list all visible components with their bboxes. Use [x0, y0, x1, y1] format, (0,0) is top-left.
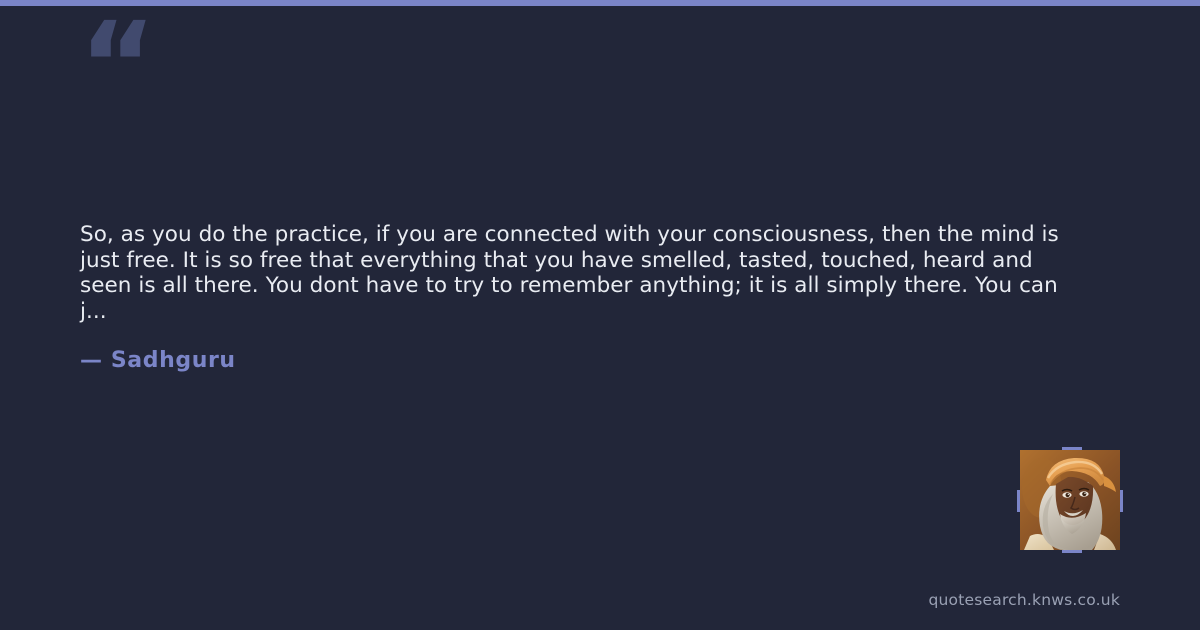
quote-text: So, as you do the practice, if you are c…	[80, 222, 1060, 324]
quote-card: “ So, as you do the practice, if you are…	[0, 0, 1200, 630]
quote-body: So, as you do the practice, if you are c…	[80, 222, 1060, 373]
opening-quote-icon: “	[79, 6, 155, 124]
watermark-site: quotesearch.knws.co.uk	[928, 591, 1120, 609]
frame-accent-bottom-icon	[1062, 550, 1082, 553]
quote-attribution: — Sadhguru	[80, 348, 1060, 373]
author-portrait	[1020, 450, 1120, 550]
frame-accent-right-icon	[1120, 490, 1123, 512]
portrait-image	[1020, 450, 1120, 550]
top-accent-bar	[0, 0, 1200, 6]
